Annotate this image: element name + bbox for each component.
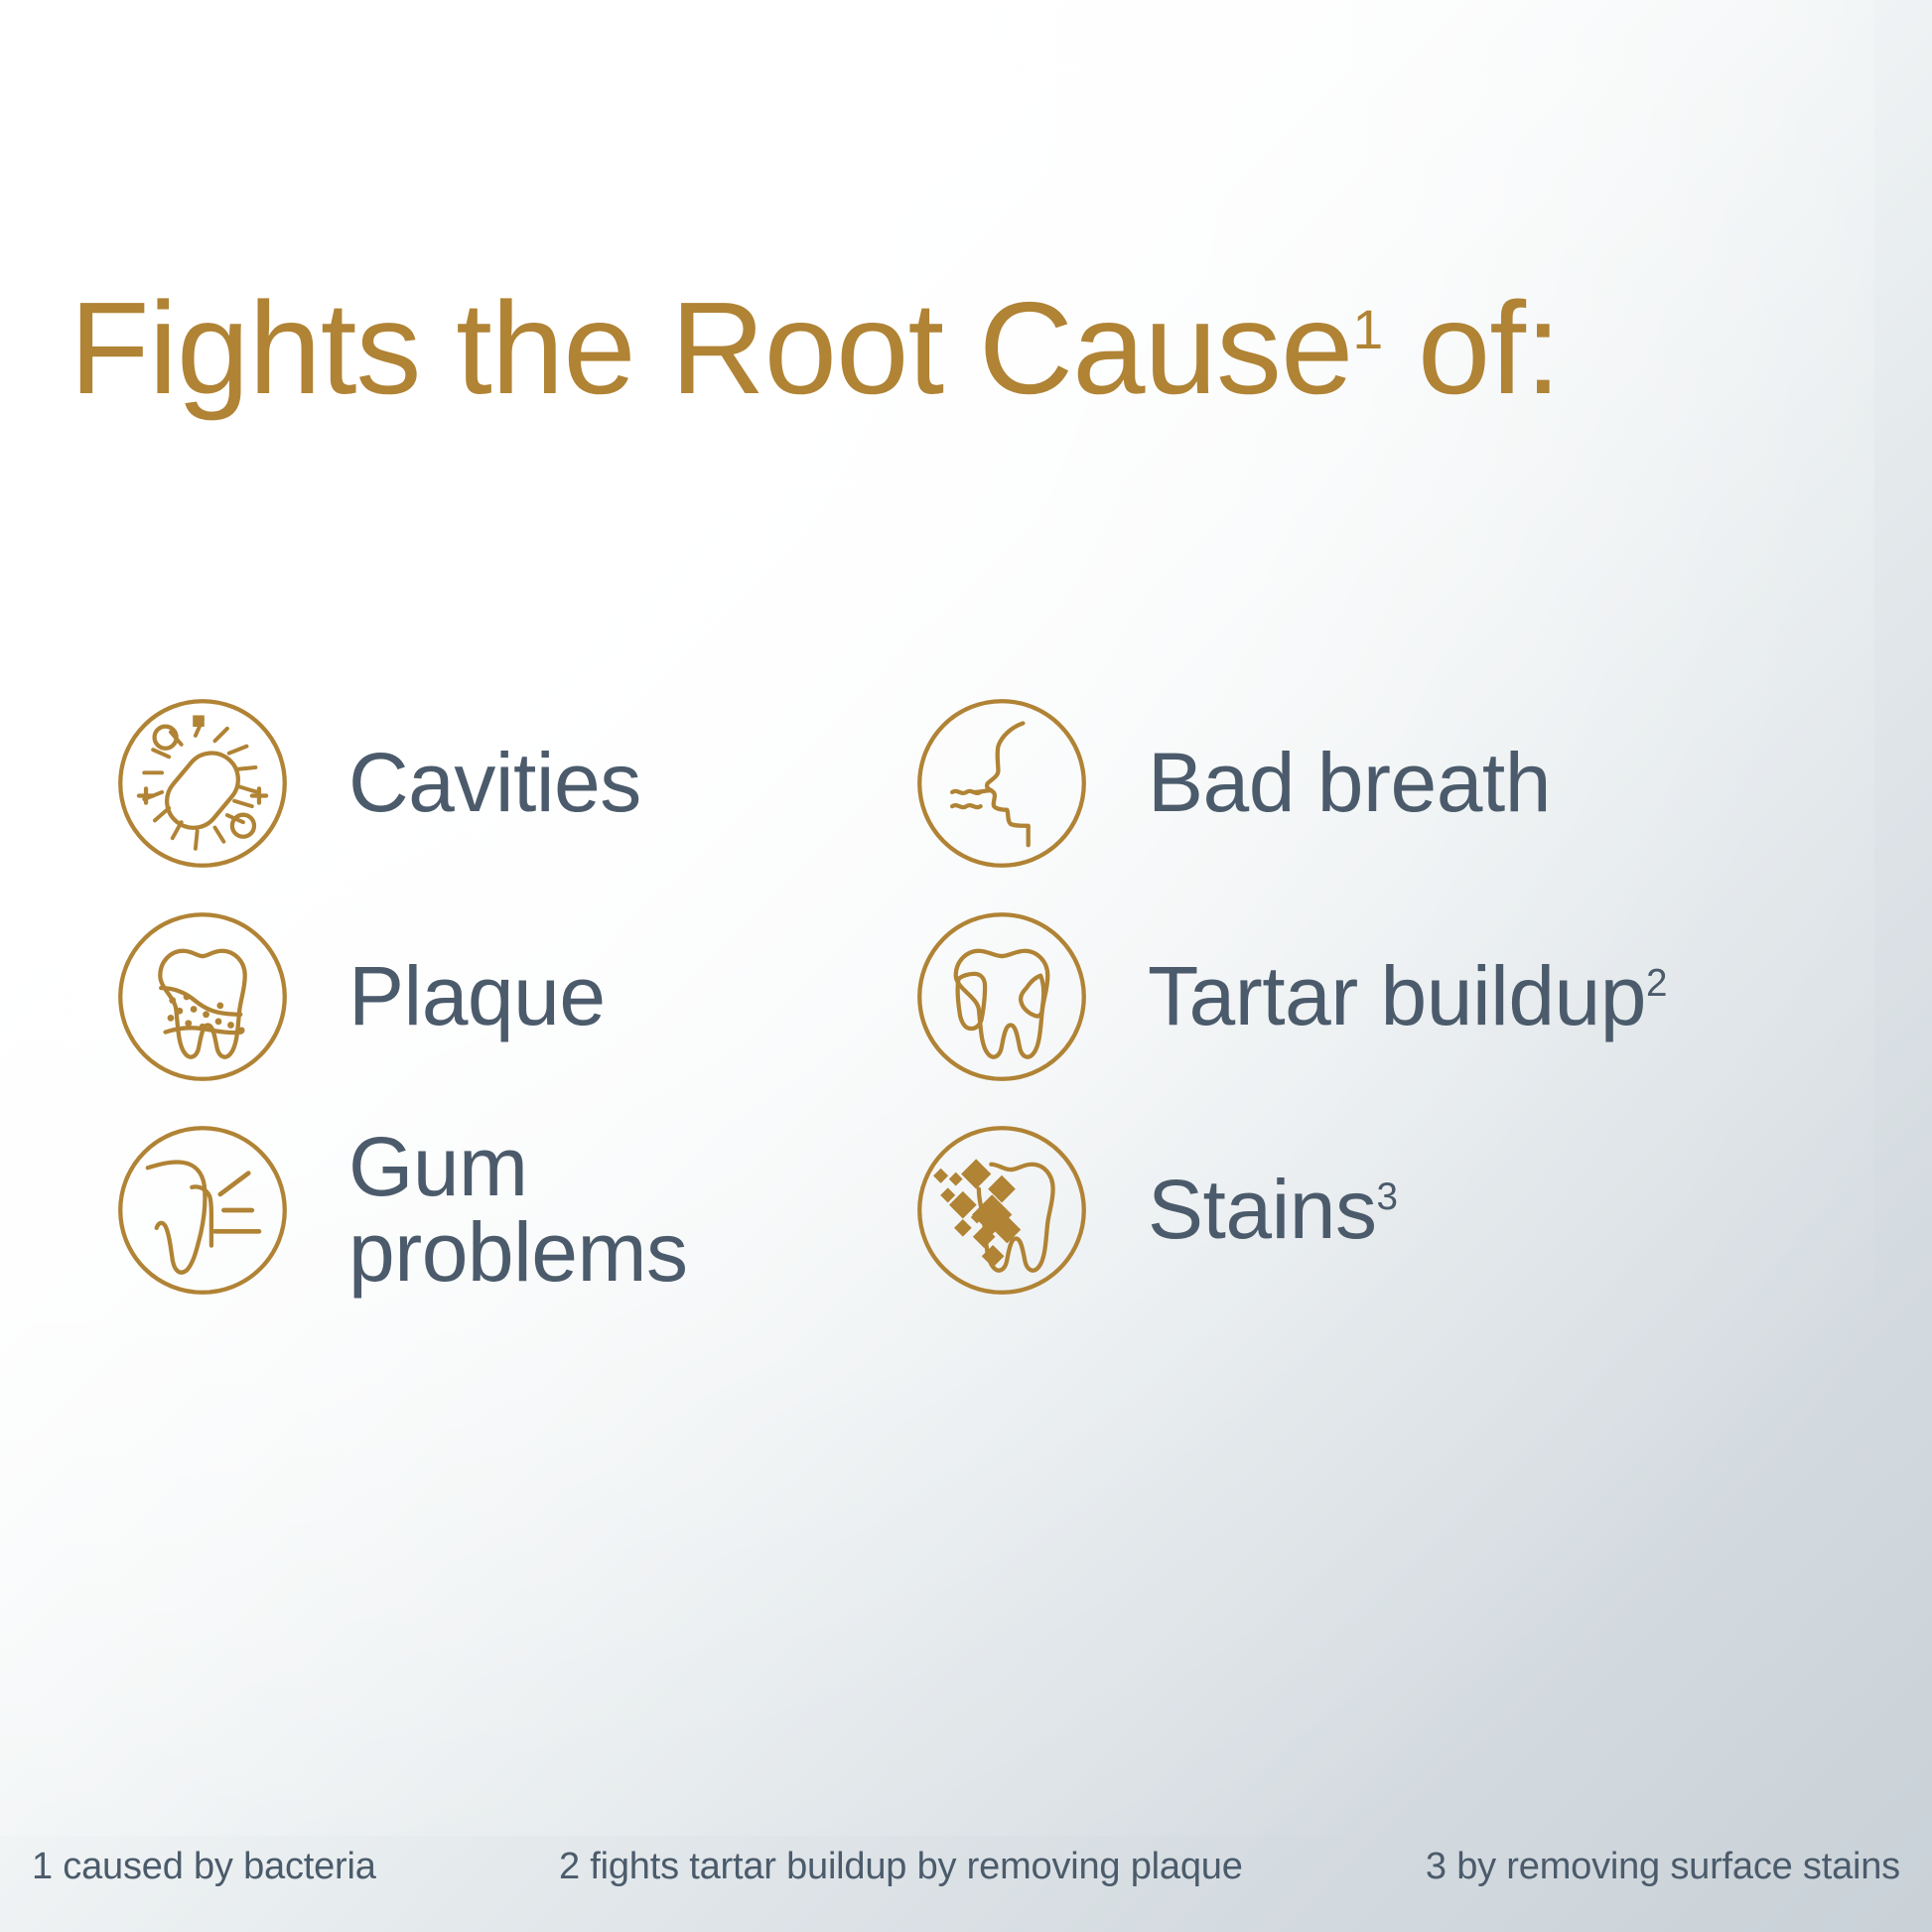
footnote-1: 1 caused by bacteria — [32, 1846, 376, 1888]
benefit-item-plaque: Plaque — [114, 908, 606, 1085]
benefit-item-cavities: Cavities — [114, 695, 641, 872]
bacteria-icon — [114, 695, 291, 872]
benefit-label-superscript: 2 — [1646, 962, 1667, 1005]
benefit-label-plaque: Plaque — [348, 954, 606, 1039]
tartar-tooth-icon — [913, 908, 1090, 1085]
benefit-item-stains: Stains3 — [913, 1122, 1397, 1299]
benefit-item-tartar-buildup: Tartar buildup2 — [913, 908, 1667, 1085]
gum-tooth-icon — [114, 1122, 291, 1299]
footnote-2: 2 fights tartar buildup by removing plaq… — [559, 1846, 1243, 1888]
page-title-text: Fights the Root Cause — [69, 275, 1352, 421]
page-title-superscript: 1 — [1352, 299, 1382, 360]
footnote-row: 1 caused by bacteria 2 fights tartar bui… — [0, 1846, 1932, 1888]
benefit-label-text: Tartar buildup — [1148, 949, 1646, 1042]
page-title-suffix: of: — [1382, 275, 1560, 421]
promo-poster: Fights the Root Cause1 of: — [0, 0, 1932, 1932]
benefit-label-text: Cavities — [348, 736, 641, 829]
benefit-label-cavities: Cavities — [348, 741, 641, 826]
benefit-label-stains: Stains3 — [1148, 1168, 1397, 1253]
benefit-label-bad-breath: Bad breath — [1148, 741, 1551, 826]
benefit-item-bad-breath: Bad breath — [913, 695, 1551, 872]
plaque-tooth-icon — [114, 908, 291, 1085]
benefit-label-text: Stains — [1148, 1163, 1376, 1256]
face-breath-icon — [913, 695, 1090, 872]
benefit-item-gum-problems: Gum problems — [114, 1122, 746, 1299]
benefit-label-gum-problems: Gum problems — [348, 1125, 746, 1295]
stains-tooth-icon — [913, 1122, 1090, 1299]
benefit-label-superscript: 3 — [1376, 1175, 1397, 1218]
benefit-label-text: Gum problems — [348, 1120, 687, 1299]
benefit-label-text: Bad breath — [1148, 736, 1551, 829]
page-title: Fights the Root Cause1 of: — [69, 280, 1561, 418]
benefit-label-text: Plaque — [348, 949, 606, 1042]
footnote-3: 3 by removing surface stains — [1426, 1846, 1900, 1888]
benefit-label-tartar-buildup: Tartar buildup2 — [1148, 954, 1667, 1039]
